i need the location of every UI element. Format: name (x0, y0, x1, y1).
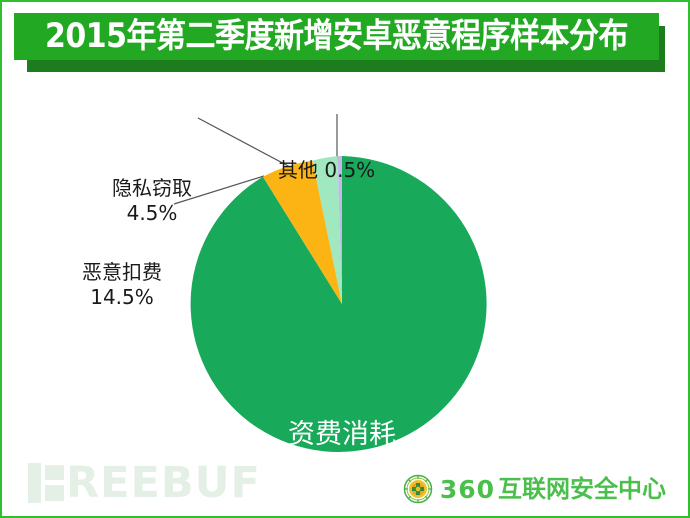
callout-malicious-charge-name: 恶意扣费 (82, 260, 162, 284)
title-banner: 2015年第二季度新增安卓恶意程序样本分布 (13, 12, 659, 60)
brand-360-logo: 360 互联网安全中心 (403, 474, 666, 504)
freebuf-watermark: REEBUF (20, 460, 261, 506)
freebuf-logo-icon (20, 463, 64, 503)
callout-privacy-theft: 隐私窃取 4.5% (112, 176, 192, 226)
callout-privacy-theft-pct: 4.5% (112, 201, 192, 226)
callout-malicious-charge: 恶意扣费 14.5% (82, 260, 162, 310)
callout-other: 其他 0.5% (278, 158, 375, 183)
chart-page: 2015年第二季度新增安卓恶意程序样本分布 隐私窃取 4.5% 恶意扣费 (0, 0, 690, 518)
title-banner-wrapper: 2015年第二季度新增安卓恶意程序样本分布 (13, 12, 665, 72)
slice-label-fee-consumption-name: 资费消耗 (252, 412, 432, 451)
freebuf-watermark-text: REEBUF (66, 462, 261, 505)
brand-360-name: 互联网安全中心 (498, 477, 666, 501)
shield-badge-icon (403, 474, 433, 504)
brand-360-number: 360 (440, 477, 495, 502)
callout-privacy-theft-name: 隐私窃取 (112, 176, 192, 200)
pie-chart: 隐私窃取 4.5% 恶意扣费 14.5% 其他 0.5% 资费消耗 80.5% (2, 72, 688, 452)
page-title: 2015年第二季度新增安卓恶意程序样本分布 (45, 20, 628, 54)
callout-malicious-charge-pct: 14.5% (82, 285, 162, 310)
callout-other-label: 其他 0.5% (278, 158, 375, 182)
